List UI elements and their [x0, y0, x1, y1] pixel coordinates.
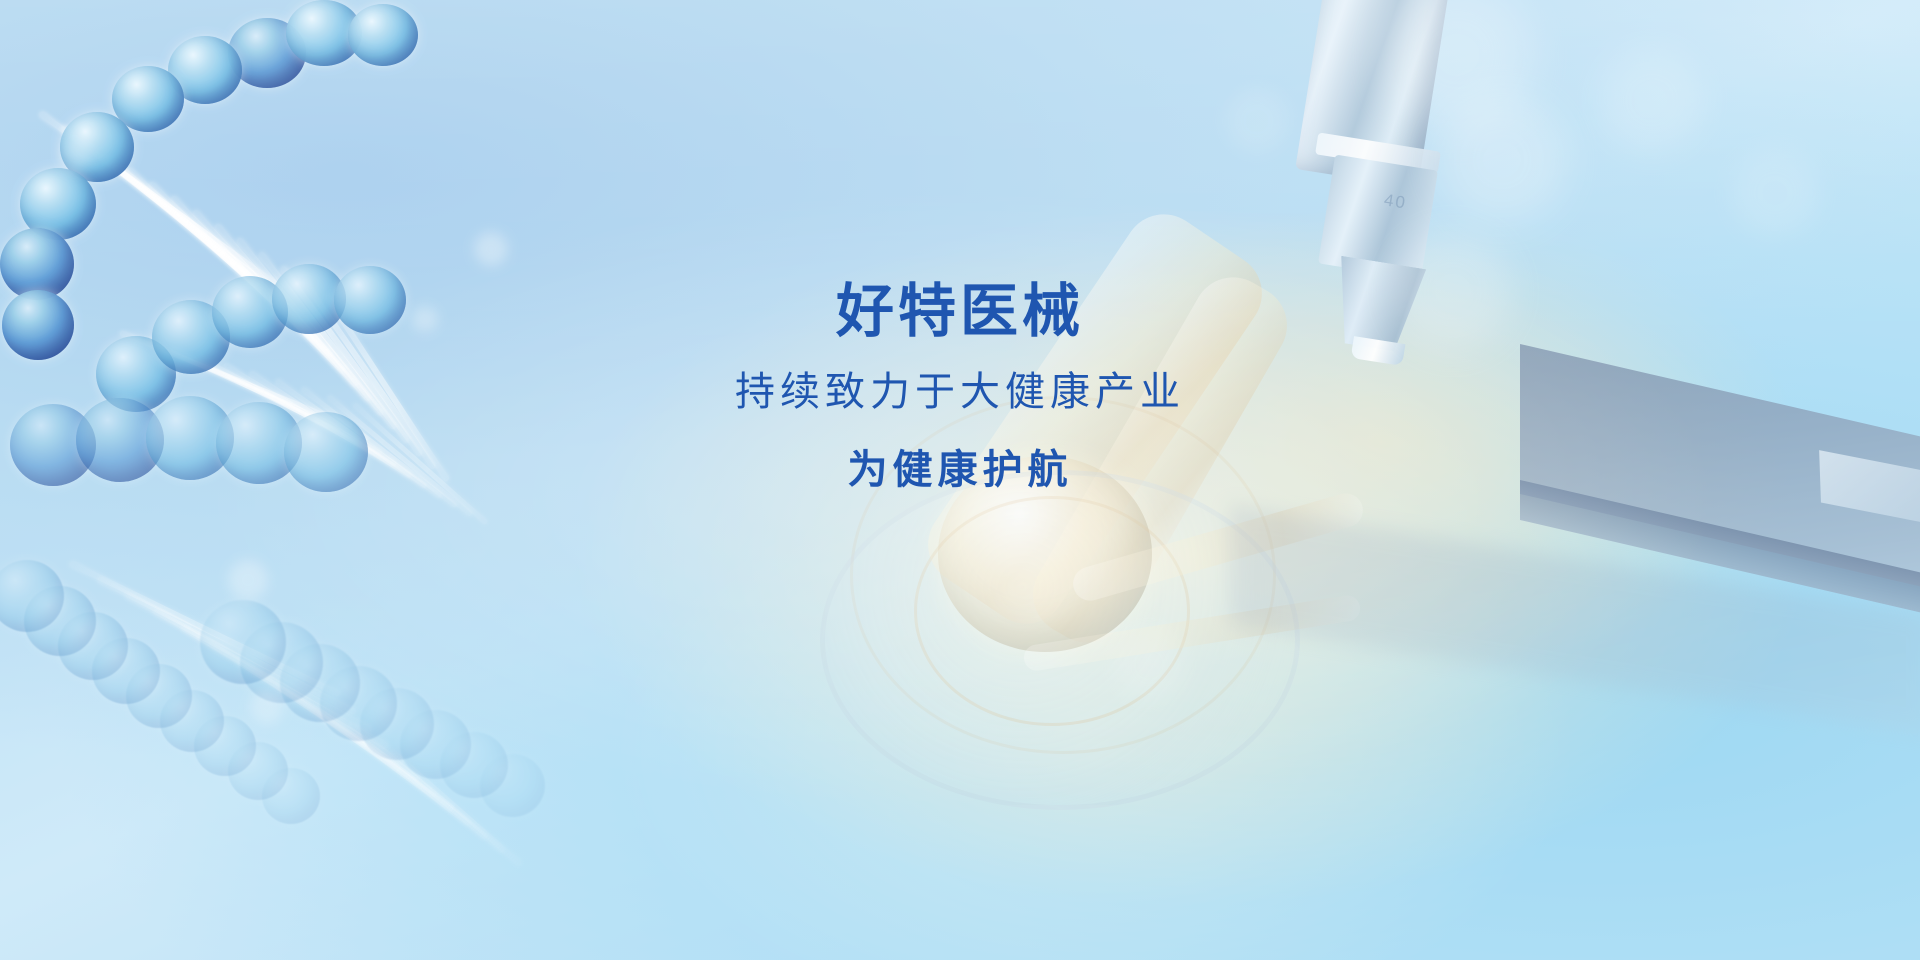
- hero-text-block: 好特医械 持续致力于大健康产业 为健康护航: [0, 282, 1920, 492]
- hero-subtitle: 持续致力于大健康产业: [0, 370, 1920, 414]
- hero-banner: 40 好特医械 持续致力于大健康产业 为健康护航: [0, 0, 1920, 960]
- page-title: 好特医械: [0, 282, 1920, 342]
- hero-tagline: 为健康护航: [0, 448, 1920, 492]
